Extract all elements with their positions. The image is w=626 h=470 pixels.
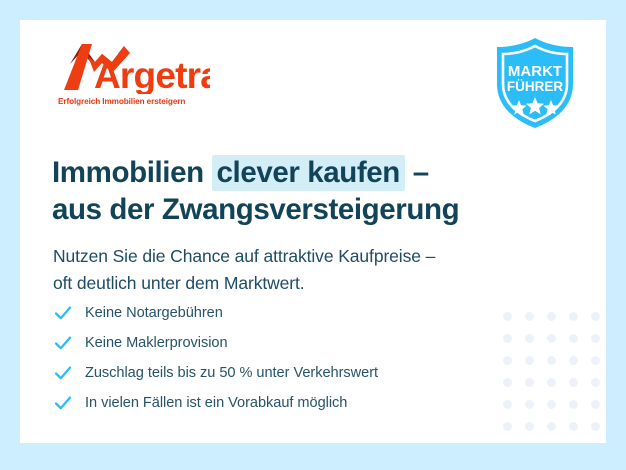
benefit-label: Zuschlag teils bis zu 50 % unter Verkehr… <box>85 365 378 381</box>
list-item: Zuschlag teils bis zu 50 % unter Verkehr… <box>53 358 378 388</box>
page-title: Immobilien clever kaufen – aus der Zwang… <box>52 155 459 229</box>
grid-dot <box>591 400 600 409</box>
shield-icon: MARKT FÜHRER <box>492 36 578 130</box>
dot-grid-decoration <box>496 305 606 437</box>
grid-dot <box>503 334 512 343</box>
grid-dot <box>525 378 534 387</box>
list-item: Keine Notargebühren <box>53 298 378 328</box>
grid-dot <box>591 312 600 321</box>
badge-line2: FÜHRER <box>507 79 563 94</box>
headline-text-after: – <box>405 156 429 189</box>
grid-dot <box>591 378 600 387</box>
grid-dot <box>547 422 556 431</box>
grid-dot <box>547 400 556 409</box>
benefit-label: Keine Maklerprovision <box>85 335 228 351</box>
grid-dot <box>503 312 512 321</box>
list-item: In vielen Fällen ist ein Vorabkauf mögli… <box>53 388 378 418</box>
grid-dot <box>525 422 534 431</box>
grid-dot <box>525 400 534 409</box>
grid-dot <box>569 400 578 409</box>
subtitle-line-1: Nutzen Sie die Chance auf attraktive Kau… <box>53 243 435 270</box>
headline-line-2: aus der Zwangsversteigerung <box>52 192 459 229</box>
subtitle-line-2: oft deutlich unter dem Marktwert. <box>53 270 435 297</box>
grid-dot <box>525 356 534 365</box>
headline-text-before: Immobilien <box>52 156 212 189</box>
grid-dot <box>591 356 600 365</box>
grid-dot <box>525 334 534 343</box>
promo-banner: Argetra Erfolgreich Immobilien ersteiger… <box>0 0 626 470</box>
content-card: Argetra Erfolgreich Immobilien ersteiger… <box>20 20 606 443</box>
grid-dot <box>569 356 578 365</box>
logo-lockup: Argetra <box>58 42 210 94</box>
grid-dot <box>569 312 578 321</box>
grid-dot <box>591 422 600 431</box>
brand-logo[interactable]: Argetra Erfolgreich Immobilien ersteiger… <box>58 42 210 106</box>
argetra-roof-arrow-icon: Argetra <box>58 42 210 94</box>
grid-dot <box>503 378 512 387</box>
grid-dot <box>569 422 578 431</box>
market-leader-badge: MARKT FÜHRER <box>492 36 578 130</box>
check-icon <box>53 333 73 353</box>
check-icon <box>53 393 73 413</box>
grid-dot <box>525 312 534 321</box>
grid-dot <box>547 378 556 387</box>
grid-dot <box>503 356 512 365</box>
badge-line1: MARKT <box>508 63 562 80</box>
grid-dot <box>547 356 556 365</box>
benefits-list: Keine Notargebühren Keine Maklerprovisio… <box>53 298 378 418</box>
benefit-label: In vielen Fällen ist ein Vorabkauf mögli… <box>85 395 347 411</box>
grid-dot <box>591 334 600 343</box>
benefit-label: Keine Notargebühren <box>85 305 223 321</box>
logo-wordmark: Argetra <box>94 55 210 94</box>
grid-dot <box>569 378 578 387</box>
subtitle: Nutzen Sie die Chance auf attraktive Kau… <box>53 243 435 297</box>
check-icon <box>53 363 73 383</box>
list-item: Keine Maklerprovision <box>53 328 378 358</box>
logo-tagline: Erfolgreich Immobilien ersteigern <box>58 97 210 106</box>
headline-highlight: clever kaufen <box>212 155 405 191</box>
grid-dot <box>569 334 578 343</box>
grid-dot <box>503 400 512 409</box>
grid-dot <box>547 312 556 321</box>
headline-line-1: Immobilien clever kaufen – <box>52 155 459 192</box>
check-icon <box>53 303 73 323</box>
grid-dot <box>503 422 512 431</box>
grid-dot <box>547 334 556 343</box>
